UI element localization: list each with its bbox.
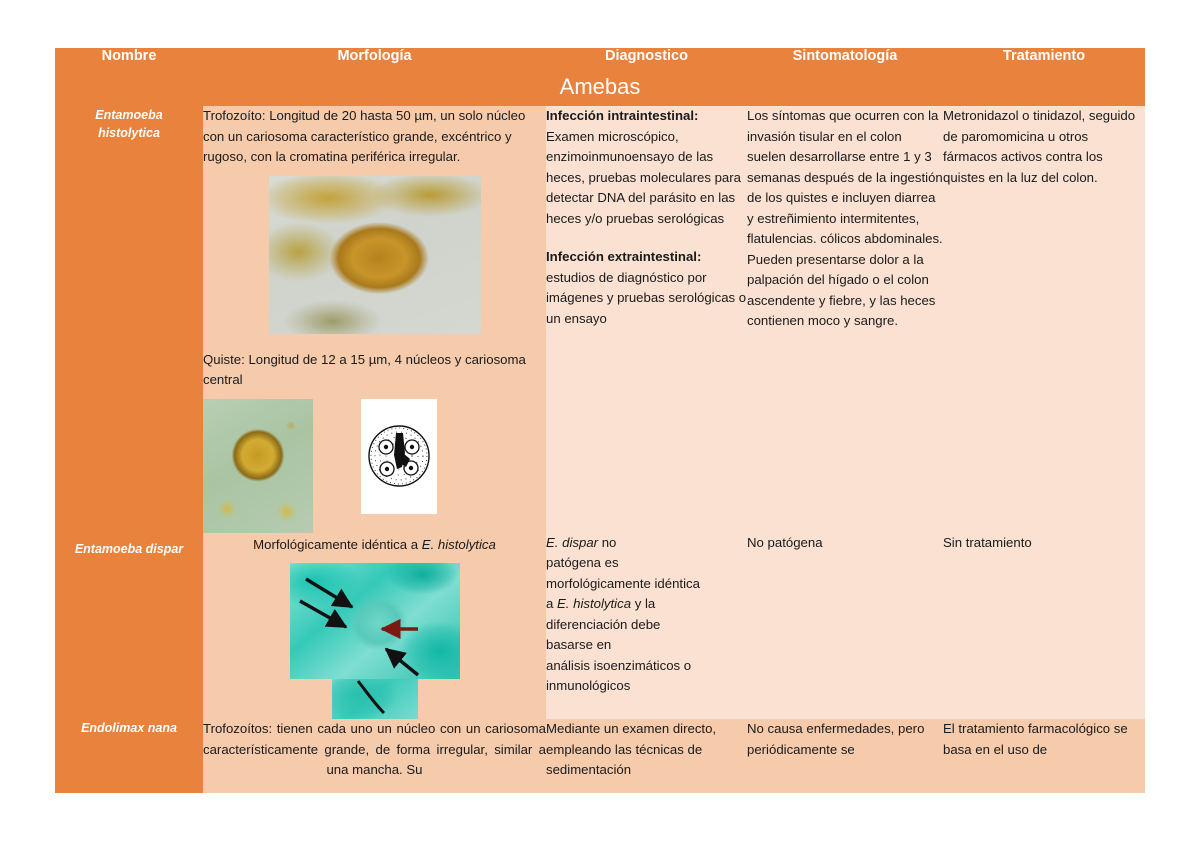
cell-morfologia-endolimax: Trofozoítos: tienen cada uno un núcleo c… [203, 719, 546, 793]
species-name-line-2: histolytica [98, 126, 160, 140]
column-header-morfologia: Morfología [203, 48, 546, 74]
section-title-amebas: Amebas [55, 74, 1145, 106]
diagnostico-intraintestinal-label: Infección intraintestinal: [546, 106, 747, 127]
trofozoito-image-wrap [203, 176, 546, 334]
dispar-diag-line-5: diferenciación debe [546, 615, 747, 636]
row-name-entamoeba-histolytica: Entamoeba histolytica [55, 106, 203, 533]
trofozoito-description: Trofozoíto: Longitud de 20 hasta 50 µm, … [203, 106, 546, 168]
cell-tratamiento-endolimax: El tratamiento farmacológico se basa en … [943, 719, 1145, 793]
cell-diagnostico-dispar: E. dispar no patógena es morfológicament… [546, 533, 747, 720]
cell-sintomatologia-dispar: No patógena [747, 533, 943, 720]
quiste-image-row [203, 399, 546, 533]
dispar-diag-species-2: E. histolytica [557, 596, 631, 611]
diagnostico-intraintestinal-text: Examen microscópico, enzimoinmunoensayo … [546, 127, 747, 230]
diagnostico-extraintestinal-text: estudios de diagnóstico por imágenes y p… [546, 268, 747, 330]
section-banner-row: Amebas [55, 74, 1145, 106]
row-name-endolimax-nana: Endolimax nana [55, 719, 203, 793]
dispar-diag-line-8: inmunológicos [546, 676, 747, 697]
dispar-diag-species-1: E. dispar [546, 535, 598, 550]
dispar-diag-line-1: E. dispar no [546, 533, 747, 554]
cell-tratamiento-histolytica: Metronidazol o tinidazol, seguido de par… [943, 106, 1145, 533]
table-row: Endolimax nana Trofozoítos: tienen cada … [55, 719, 1145, 793]
table-row: Entamoeba dispar Morfológicamente idénti… [55, 533, 1145, 720]
dispar-diag-line4-pre: a [546, 596, 557, 611]
column-header-nombre: Nombre [55, 48, 203, 74]
dispar-morph-species: E. histolytica [422, 537, 496, 552]
dispar-diag-line-3: morfológicamente idéntica [546, 574, 747, 595]
cell-sintomatologia-endolimax: No causa enfermedades, pero periódicamen… [747, 719, 943, 793]
dispar-image-wrap [203, 563, 546, 719]
cell-diagnostico-histolytica: Infección intraintestinal: Examen micros… [546, 106, 747, 533]
cell-tratamiento-dispar: Sin tratamiento [943, 533, 1145, 720]
dispar-morph-plain: Morfológicamente idéntica a [253, 537, 422, 552]
micrograph-trophozoite-entamoeba-histolytica [269, 176, 481, 334]
micrograph-cyst-entamoeba-histolytica [203, 399, 313, 533]
cell-diagnostico-endolimax: Mediante un examen directo, empleando la… [546, 719, 747, 793]
parasite-reference-table: Nombre Morfología Diagnostico Sintomatol… [55, 48, 1145, 793]
dispar-diag-line1-rest: no [598, 535, 616, 550]
dispar-diag-line-2: patógena es [546, 553, 747, 574]
column-header-sintomatologia: Sintomatología [747, 48, 943, 74]
dispar-morphology-text: Morfológicamente idéntica a E. histolyti… [203, 533, 546, 556]
document-page: Nombre Morfología Diagnostico Sintomatol… [0, 0, 1200, 849]
table-row: Entamoeba histolytica Trofozoíto: Longit… [55, 106, 1145, 533]
dispar-diag-line4-post: y la [631, 596, 655, 611]
column-header-diagnostico: Diagnostico [546, 48, 747, 74]
dispar-diag-line-4: a E. histolytica y la [546, 594, 747, 615]
diagnostico-extraintestinal-label: Infección extraintestinal: [546, 247, 747, 268]
dispar-diag-line-7: análisis isoenzimáticos o [546, 656, 747, 677]
micrograph-dispar-lower-region [332, 679, 418, 719]
line-drawing-cyst-four-nuclei [361, 399, 437, 514]
quiste-description: Quiste: Longitud de 12 a 15 µm, 4 núcleo… [203, 350, 546, 391]
table-header-row: Nombre Morfología Diagnostico Sintomatol… [55, 48, 1145, 74]
species-name-line-1: Entamoeba [95, 108, 162, 122]
column-header-tratamiento: Tratamiento [943, 48, 1145, 74]
cell-sintomatologia-histolytica: Los síntomas que ocurren con la invasión… [747, 106, 943, 533]
cell-morfologia-dispar: Morfológicamente idéntica a E. histolyti… [203, 533, 546, 720]
row-name-entamoeba-dispar: Entamoeba dispar [55, 533, 203, 720]
cell-morfologia-histolytica: Trofozoíto: Longitud de 20 hasta 50 µm, … [203, 106, 546, 533]
dispar-diag-line-6: basarse en [546, 635, 747, 656]
micrograph-entamoeba-dispar-stained-arrows [290, 563, 460, 679]
